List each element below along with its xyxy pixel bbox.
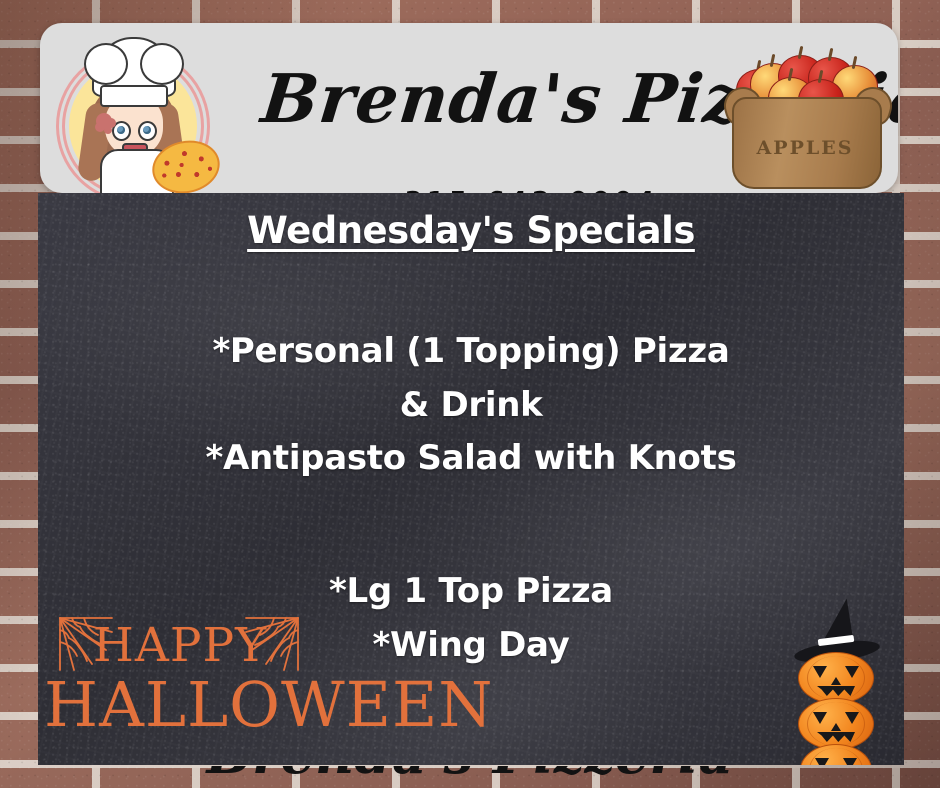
bottom-script-text: Brenda's Pizzeria xyxy=(0,766,940,786)
menu-line: & Drink xyxy=(38,379,904,433)
mascot-eye-left xyxy=(112,121,131,141)
flower-icon xyxy=(96,113,112,129)
apple-sack-label: APPLES xyxy=(714,137,896,159)
pizzeria-specials-poster: Brenda's Pizzeria 315-642-0004 APPLES We… xyxy=(0,0,940,788)
menu-line: *Wing Day xyxy=(38,619,904,673)
bottom-partial-script: Brenda's Pizzeria xyxy=(0,766,940,788)
specials-title: Wednesday's Specials xyxy=(38,209,904,252)
menu-line: *Antipasto Salad with Knots xyxy=(38,432,904,486)
menu-group-1: *Personal (1 Topping) Pizza & Drink *Ant… xyxy=(38,325,904,486)
apple-sack-icon: APPLES xyxy=(714,31,894,191)
chalkboard: Wednesday's Specials *Personal (1 Toppin… xyxy=(38,193,904,765)
menu-line: *Lg 1 Top Pizza xyxy=(38,565,904,619)
mascot-eye-right xyxy=(138,121,157,141)
menu-line: *Personal (1 Topping) Pizza xyxy=(38,325,904,379)
menu-group-2: *Lg 1 Top Pizza *Wing Day xyxy=(38,565,904,672)
chef-girl-mascot-icon xyxy=(48,29,220,193)
header-banner: Brenda's Pizzeria 315-642-0004 APPLES xyxy=(40,23,898,193)
specials-content: Wednesday's Specials *Personal (1 Toppin… xyxy=(38,193,904,765)
chef-hat-band xyxy=(100,85,168,107)
